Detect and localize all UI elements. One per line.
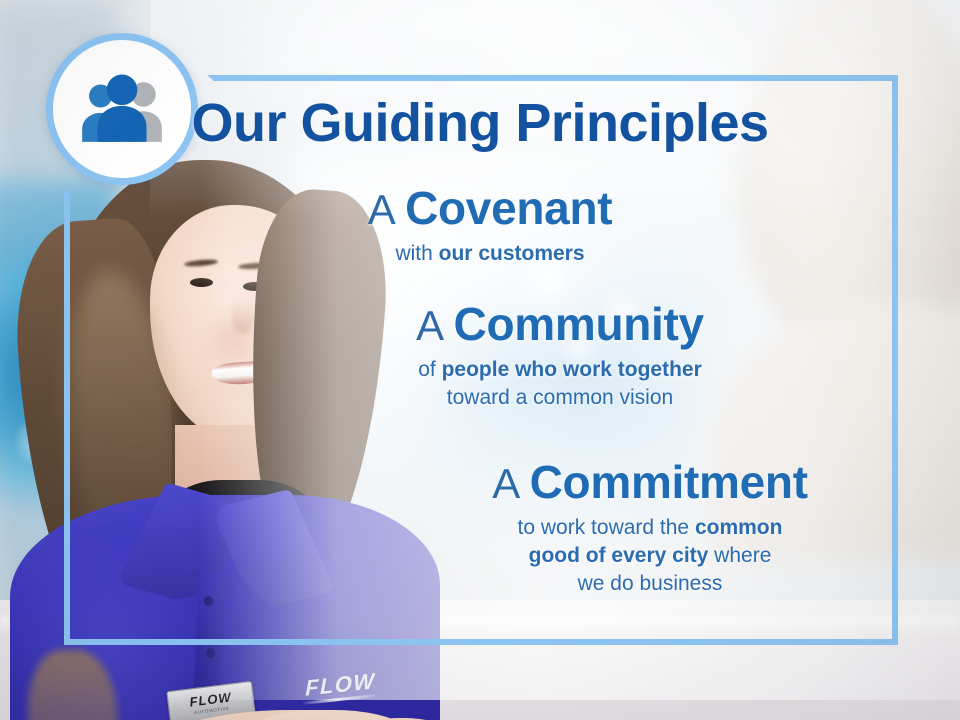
plain-text: we do business [578,572,723,595]
plain-text: of [418,358,441,381]
polo-button [206,648,215,657]
principle-subtext: to work toward the commongood of every c… [400,514,900,597]
principle-keyword: Community [454,298,704,350]
principle-keyword: Covenant [405,182,612,234]
principle-heading: A Commitment [400,458,900,506]
principle-article: A [416,302,453,349]
principle-commitment: A Commitment to work toward the commongo… [400,458,900,597]
emphasis-text: people who work together [442,358,702,381]
principle-heading: A Community [310,300,810,348]
principle-subtext-line: with our customers [240,240,740,268]
principle-keyword: Commitment [530,456,808,508]
emphasis-text: our customers [439,242,585,265]
guiding-principles-graphic: FLOW AUTOMOTIVE FLOW [0,0,960,720]
principle-subtext-line: good of every city where [400,542,900,570]
plain-text: where [708,544,771,567]
employee-eye-left [190,278,213,287]
principle-subtext: with our customers [240,240,740,268]
principle-article: A [368,186,405,233]
principle-subtext-line: toward a common vision [310,384,810,412]
employee-nose [232,300,254,334]
principle-community: A Community of people who work togethert… [310,300,810,412]
emphasis-text: common [695,516,783,539]
principle-covenant: A Covenant with our customers [240,184,740,268]
principle-article: A [492,460,529,507]
plain-text: to work toward the [518,516,695,539]
polo-button [204,596,213,605]
principle-subtext-line: to work toward the common [400,514,900,542]
principle-heading: A Covenant [240,184,740,232]
principle-subtext-line: we do business [400,570,900,598]
principle-subtext-line: of people who work together [310,356,810,384]
plain-text: with [395,242,438,265]
plain-text: toward a common vision [447,386,673,409]
emphasis-text: good of every city [529,544,709,567]
principle-subtext: of people who work togethertoward a comm… [310,356,810,411]
page-title: Our Guiding Principles [0,96,960,150]
